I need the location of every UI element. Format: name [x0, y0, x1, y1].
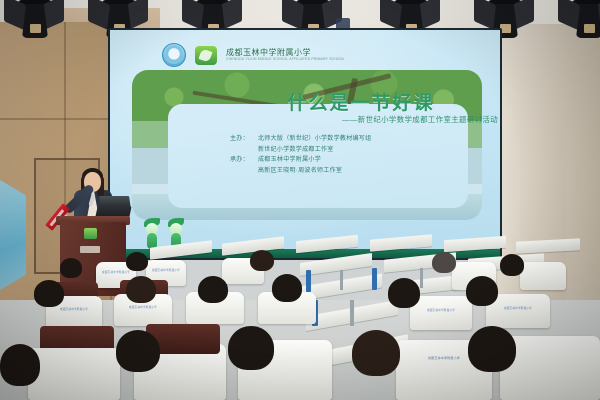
- leaf-school-logo-icon: [195, 46, 217, 65]
- audience-head: [126, 252, 148, 271]
- seat-cover-label: 成都玉林中学附属小学: [410, 308, 472, 312]
- projection-screen: 成都玉林中学附属小学 CHENGDU YULIN MIDDLE SCHOOL A…: [110, 30, 500, 258]
- teal-rollup-banner: [0, 180, 26, 290]
- slide-organizer-block: 主办： 北师大版（新世纪）小学数学教材编写组 新世纪小学数学成都工作室 承办： …: [230, 134, 460, 176]
- circular-school-emblem-icon: [162, 43, 186, 67]
- podium-plate: [80, 246, 100, 253]
- seat-cover-label: 成都玉林中学附属小学: [486, 306, 550, 310]
- organizer-row: 新世纪小学数学成都工作室: [230, 145, 460, 156]
- leaf-mascot-left-icon: [144, 220, 160, 250]
- audience-head: [352, 330, 400, 376]
- seat-cover-label: 成都玉林中学附属小学: [46, 307, 102, 311]
- audience-head: [432, 252, 456, 273]
- organizer-key-blank: [230, 145, 254, 156]
- audience-head: [228, 326, 274, 370]
- slide-school-name-en: CHENGDU YULIN MIDDLE SCHOOL AFFILIATED P…: [226, 58, 345, 62]
- slide-logo-row: 成都玉林中学附属小学 CHENGDU YULIN MIDDLE SCHOOL A…: [162, 43, 345, 67]
- organizer-key: 主办：: [230, 134, 254, 145]
- desk-leg: [340, 270, 343, 290]
- organizer-line: 成都玉林中学附属小学: [258, 155, 321, 166]
- organizer-row: 主办： 北师大版（新世纪）小学数学教材编写组: [230, 134, 460, 145]
- desk-leg: [420, 268, 423, 288]
- stage-light: [8, 0, 62, 44]
- audience-head: [116, 330, 160, 372]
- audience-head: [0, 344, 40, 386]
- audience-head: [126, 276, 156, 303]
- seat-cover-label: 成都玉林中学附属小学: [146, 268, 186, 272]
- audience-head: [272, 274, 302, 302]
- organizer-key-blank: [230, 166, 254, 177]
- audience-head: [250, 250, 274, 271]
- podium-school-logo-icon: [84, 228, 97, 239]
- seat-cover-label: 成都玉林中学附属小学: [96, 270, 136, 274]
- organizer-row: 承办： 成都玉林中学附属小学: [230, 155, 460, 166]
- slide-school-name-cn: 成都玉林中学附属小学: [226, 48, 311, 57]
- organizer-line: 新世纪小学数学成都工作室: [258, 145, 334, 156]
- organizer-row: 高新区王晓明·周波名师工作室: [230, 166, 460, 177]
- screenshot-root: 成都玉林中学附属小学 CHENGDU YULIN MIDDLE SCHOOL A…: [0, 0, 600, 400]
- audience-head: [198, 276, 228, 303]
- audience-chair: 成都玉林中学附属小学: [410, 296, 472, 330]
- organizer-line: 北师大版（新世纪）小学数学教材编写组: [258, 134, 371, 145]
- desk-support: [372, 268, 377, 290]
- audience-head: [60, 258, 82, 278]
- stage-light: [562, 0, 600, 44]
- seat-cover-label: 成都玉林中学附属小学: [114, 305, 172, 309]
- audience-head: [388, 278, 420, 308]
- audience-head: [34, 280, 64, 307]
- audience-head: [468, 326, 516, 372]
- audience-chair: [520, 262, 566, 290]
- audience-head: [500, 254, 524, 276]
- audience-head: [466, 276, 498, 306]
- desk-leg: [350, 300, 354, 326]
- organizer-key: 承办：: [230, 155, 254, 166]
- audience-chair: [28, 348, 120, 400]
- slide-subtitle: ——新世纪小学数学成都工作室主题研讨活动: [260, 114, 498, 125]
- slide-title: 什么是一节好课: [236, 88, 486, 115]
- desk-support: [306, 270, 311, 292]
- organizer-line: 高新区王晓明·周波名师工作室: [258, 166, 342, 177]
- slide-school-name: 成都玉林中学附属小学 CHENGDU YULIN MIDDLE SCHOOL A…: [226, 49, 345, 62]
